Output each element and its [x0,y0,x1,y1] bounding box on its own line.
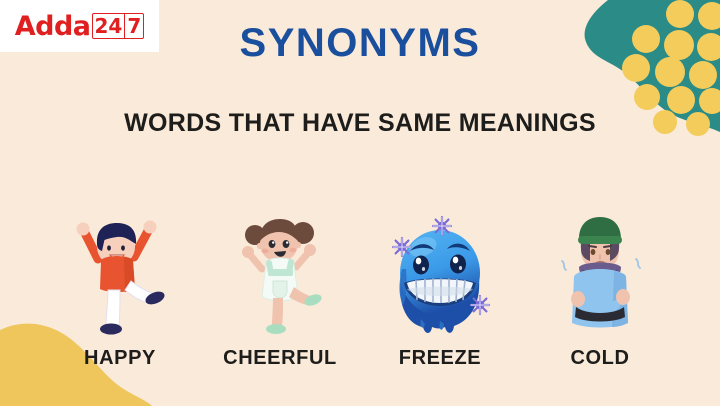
adda247-logo[interactable]: Adda 24 7 [0,0,159,52]
synonym-label-cold: COLD [570,348,629,368]
freezing-face-emoji-icon [385,209,495,339]
cold-shivering-person-icon [548,209,652,339]
logo-number-badge: 24 7 [92,13,145,39]
synonym-card-freeze: FREEZE [360,188,520,368]
synonym-card-cheerful: CHEERFUL [200,188,360,368]
synonym-label-freeze: FREEZE [399,348,482,368]
synonym-card-cold: COLD [520,188,680,368]
synonym-label-cheerful: CHEERFUL [223,348,337,368]
happy-boy-jumping-icon [68,209,172,339]
page-subtitle: WORDS THAT HAVE SAME MEANINGS [0,110,720,136]
cheerful-girl-jumping-icon [228,209,332,339]
synonym-card-row: HAPPY [40,188,680,368]
logo-digits-7: 7 [124,14,143,38]
synonyms-poster: Adda 24 7 SYNONYMS WORDS THAT HAVE SAME … [0,0,720,406]
synonym-card-happy: HAPPY [40,188,200,368]
logo-wordmark: Adda [15,13,91,40]
logo-lockup: Adda 24 7 [15,13,145,40]
logo-digits-24: 24 [93,14,125,38]
synonym-label-happy: HAPPY [84,348,156,368]
